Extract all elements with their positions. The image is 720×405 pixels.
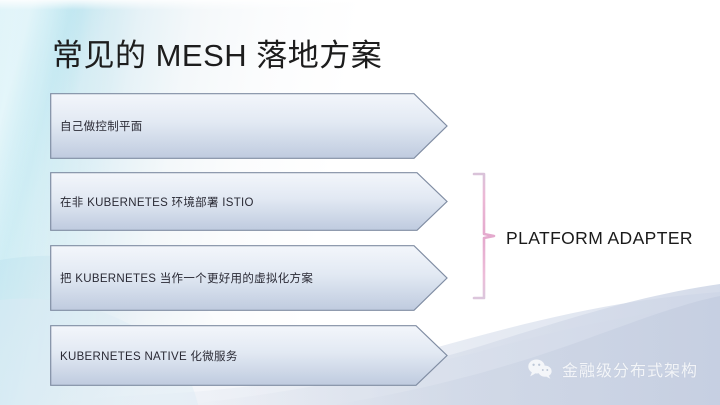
slide-canvas: 常见的 MESH 落地方案 自己做控制平面 [0, 0, 720, 405]
arrow-label-4: KUBERNETES NATIVE 化微服务 [60, 348, 238, 364]
arrow-label-3: 把 KUBERNETES 当作一个更好用的虚拟化方案 [60, 270, 313, 286]
curly-brace-icon [470, 172, 504, 300]
arrow-chevron-1[interactable]: 自己做控制平面 [50, 93, 448, 159]
watermark: 金融级分布式架构 [527, 357, 698, 381]
wechat-icon [527, 358, 553, 380]
platform-adapter-label: PLATFORM ADAPTER [506, 228, 693, 249]
page-title: 常见的 MESH 落地方案 [52, 36, 382, 76]
arrow-chevron-2[interactable]: 在非 KUBERNETES 环境部署 ISTIO [50, 172, 448, 231]
arrow-chevron-4[interactable]: KUBERNETES NATIVE 化微服务 [50, 325, 448, 386]
watermark-text: 金融级分布式架构 [562, 357, 698, 381]
arrow-label-2: 在非 KUBERNETES 环境部署 ISTIO [60, 194, 254, 210]
arrow-chevron-3[interactable]: 把 KUBERNETES 当作一个更好用的虚拟化方案 [50, 245, 448, 311]
arrow-label-1: 自己做控制平面 [60, 118, 143, 134]
background-top-fade [0, 0, 720, 10]
